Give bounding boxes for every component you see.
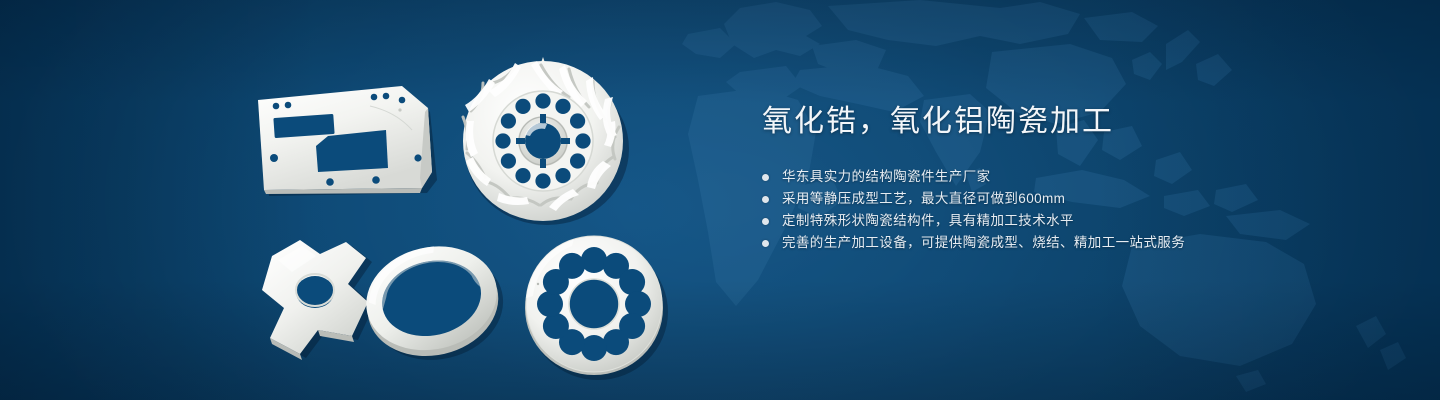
list-item: 采用等静压成型工艺，最大直径可做到600mm xyxy=(762,188,1382,210)
bullet-dot-icon xyxy=(762,240,769,247)
bullet-dot-icon xyxy=(762,174,769,181)
bullet-dot-icon xyxy=(762,218,769,225)
ceramic-ring xyxy=(358,240,508,360)
page-title: 氧化锆，氧化铝陶瓷加工 xyxy=(762,104,1382,140)
ceramic-perforated-disc xyxy=(520,232,670,378)
list-item-label: 采用等静压成型工艺，最大直径可做到600mm xyxy=(782,188,1065,210)
list-item: 华东具实力的结构陶瓷件生产厂家 xyxy=(762,166,1382,188)
list-item: 完善的生产加工设备，可提供陶瓷成型、烧结、精加工一站式服务 xyxy=(762,232,1382,254)
copy-block: 氧化锆，氧化铝陶瓷加工 华东具实力的结构陶瓷件生产厂家 采用等静压成型工艺，最大… xyxy=(762,104,1382,254)
list-item-label: 华东具实力的结构陶瓷件生产厂家 xyxy=(782,166,991,188)
product-image-group xyxy=(0,0,740,400)
ceramic-impeller xyxy=(455,55,631,227)
list-item: 定制特殊形状陶瓷结构件，具有精加工技术水平 xyxy=(762,210,1382,232)
feature-list: 华东具实力的结构陶瓷件生产厂家 采用等静压成型工艺，最大直径可做到600mm 定… xyxy=(762,166,1382,254)
list-item-label: 定制特殊形状陶瓷结构件，具有精加工技术水平 xyxy=(782,210,1074,232)
list-item-label: 完善的生产加工设备，可提供陶瓷成型、烧结、精加工一站式服务 xyxy=(782,232,1185,254)
hero-banner: 氧化锆，氧化铝陶瓷加工 华东具实力的结构陶瓷件生产厂家 采用等静压成型工艺，最大… xyxy=(0,0,1440,400)
bullet-dot-icon xyxy=(762,196,769,203)
ceramic-plate xyxy=(252,80,442,200)
